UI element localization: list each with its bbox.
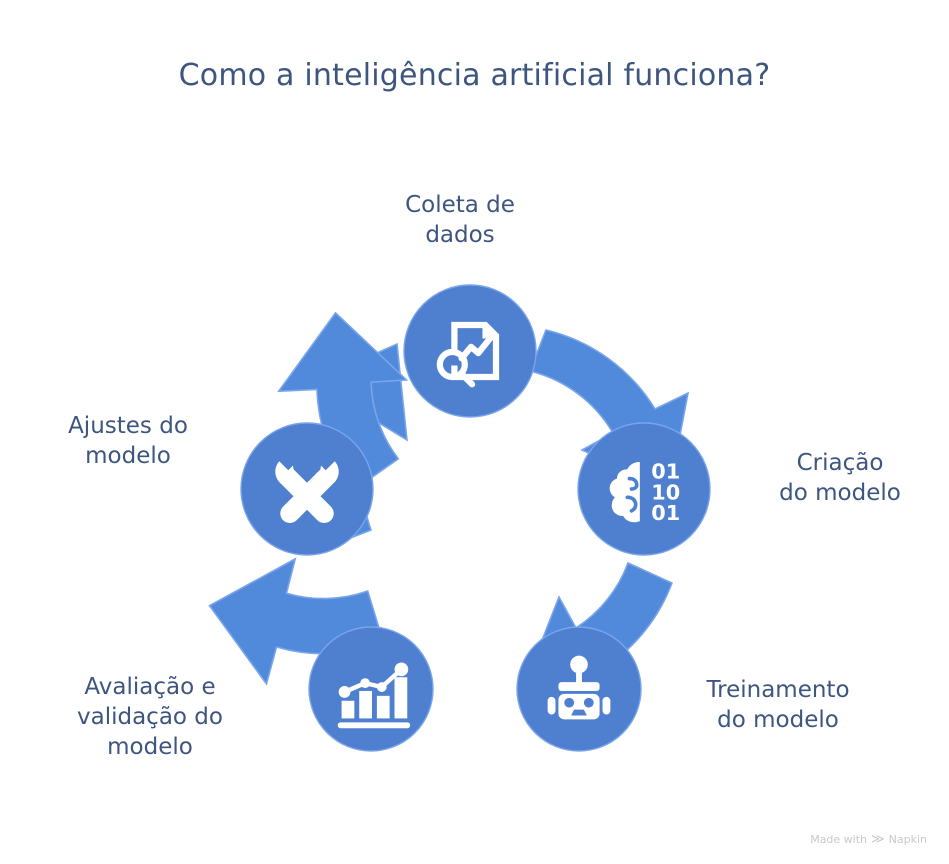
node-avaliacao-e-validacao-do-modelo[interactable] — [309, 627, 433, 751]
diagram-canvas: Como a inteligência artificial funciona?… — [0, 0, 949, 864]
watermark-prefix: Made with — [810, 833, 867, 846]
node-coleta-de-dados[interactable] — [404, 285, 536, 417]
napkin-logo-icon: ≫ — [871, 833, 885, 846]
node-treinamento-do-modelo[interactable] — [517, 627, 641, 751]
node-label-treinamento-do-modelo: Treinamento do modelo — [672, 675, 884, 735]
node-label-ajustes-do-modelo: Ajustes do modelo — [28, 411, 228, 471]
node-label-criacao-do-modelo: Criação do modelo — [740, 448, 940, 508]
napkin-watermark: Made with ≫ Napkin — [810, 833, 927, 846]
node-label-avaliacao-e-validacao-do-modelo: Avaliação e validação do modelo — [46, 672, 254, 762]
node-ajustes-do-modelo[interactable] — [241, 423, 373, 555]
watermark-brand: Napkin — [889, 833, 927, 846]
node-criacao-do-modelo[interactable] — [578, 423, 710, 555]
node-label-coleta-de-dados: Coleta de dados — [352, 190, 568, 250]
